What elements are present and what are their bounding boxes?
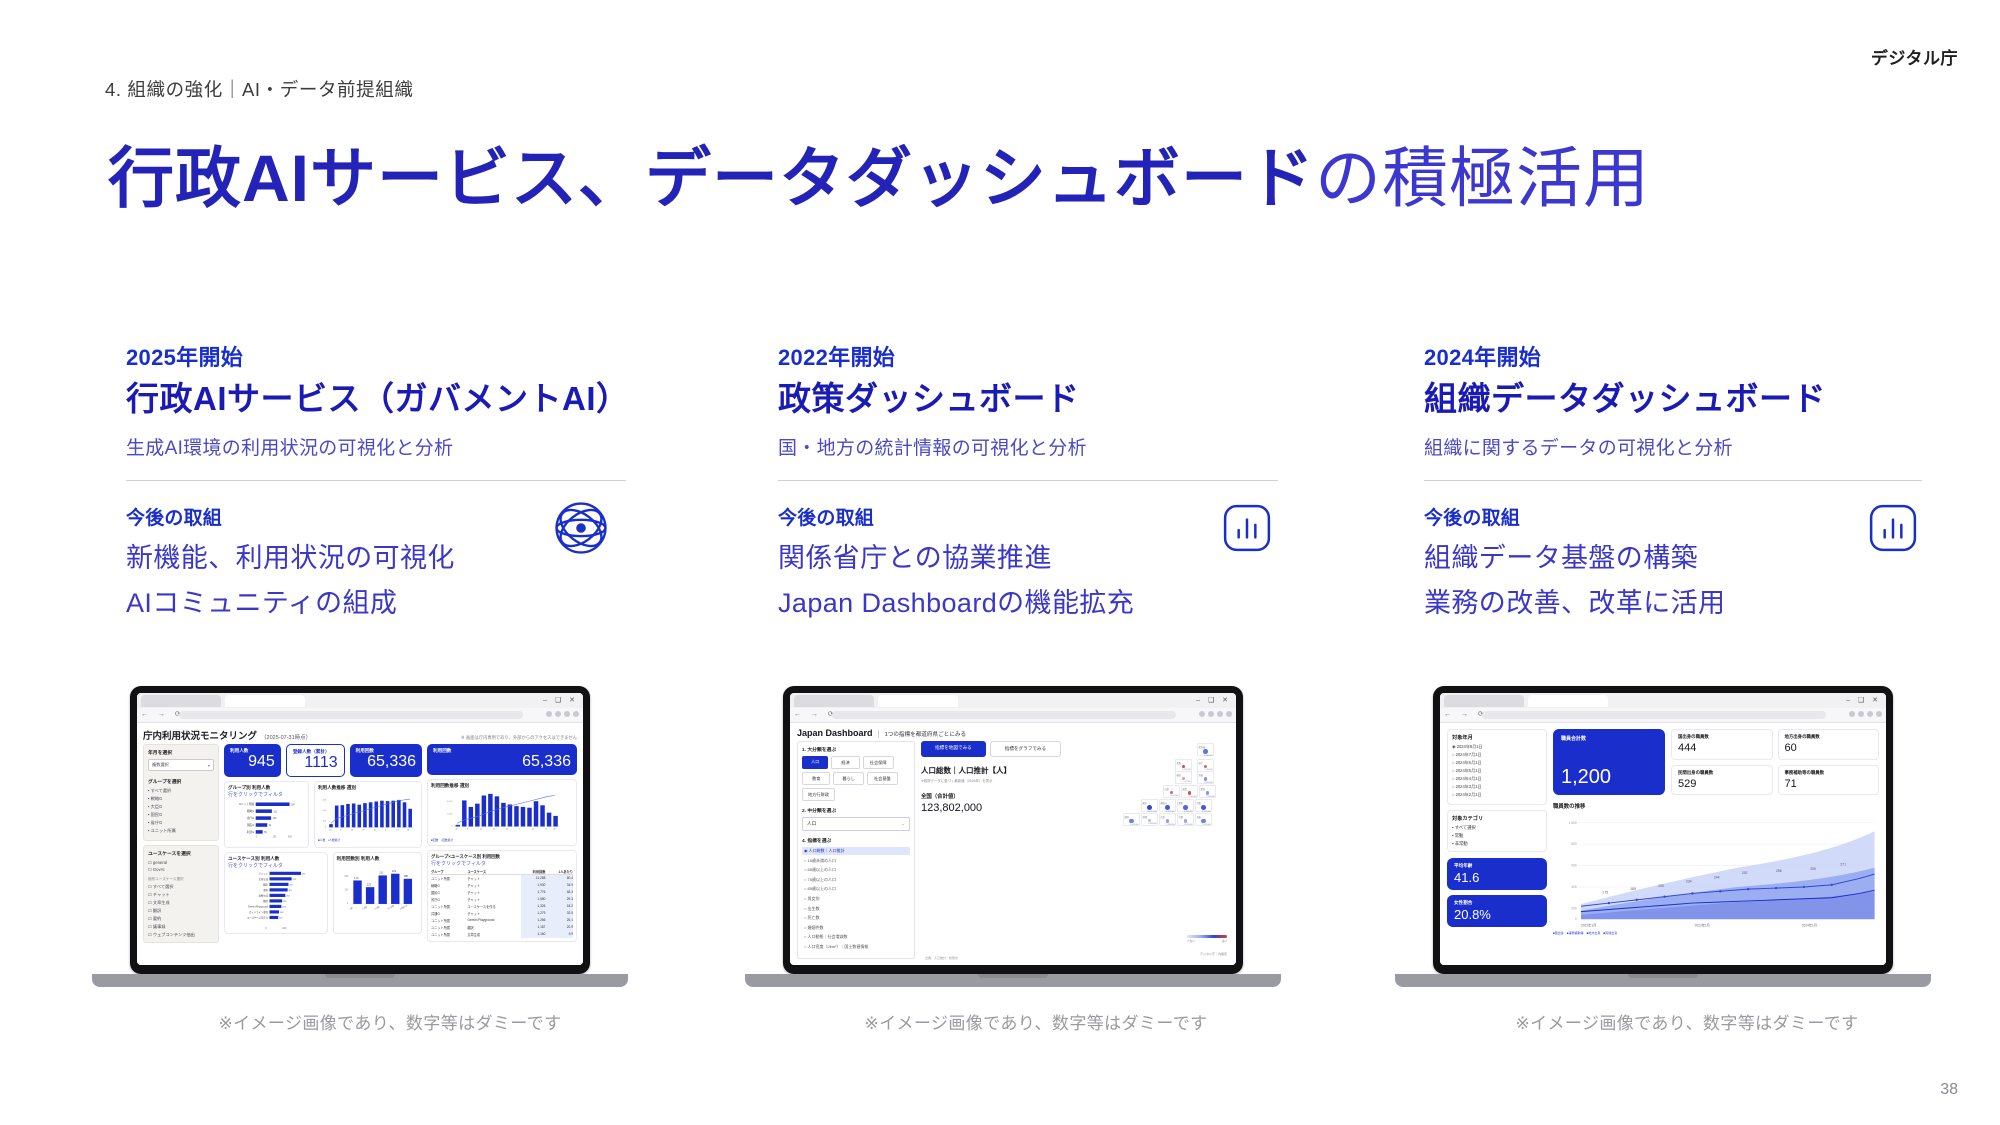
svg-text:4,000: 4,000	[447, 801, 453, 803]
indicator-radio-list[interactable]: ◉ 人口総数｜人口推計○ 15歳未満の人口○ 65歳以上の人口○ 75歳以上の人…	[802, 847, 910, 951]
svg-text:244: 244	[1714, 875, 1720, 879]
svg-text:400: 400	[288, 836, 293, 838]
svg-text:376: 376	[292, 879, 296, 881]
svg-text:0: 0	[256, 836, 258, 838]
tab-graph-view[interactable]: 指標をグラフでみる	[990, 741, 1061, 757]
filter-label: 2. 中分類を選ぶ	[802, 807, 910, 814]
chart-card-weekly-users: 利用人数推移 週別 400 200 100 0	[314, 781, 422, 848]
table-cell: チャット	[467, 910, 521, 917]
radio-option[interactable]: ○ 2024年4月1日	[1452, 776, 1542, 782]
radio-option[interactable]: ◉ 人口総数｜人口推計	[802, 847, 910, 855]
dashboard-right-1: 利用回数 65,336 利用回数推移 週別 4,000 2,000 0	[427, 744, 577, 943]
radio-option[interactable]: ○ 65歳以上の人口	[802, 866, 910, 874]
svg-text:218: 218	[283, 901, 287, 903]
svg-text:211: 211	[379, 872, 384, 875]
page-title-light: の積極活用	[1315, 141, 1650, 215]
kpi-value: 444	[1678, 742, 1766, 754]
svg-text:14: 14	[396, 829, 399, 831]
radio-option[interactable]: ◉ 2024年8月1日	[1452, 744, 1542, 750]
filter-label: 対象年月	[1452, 734, 1542, 741]
map-cell-value: 5,140,000	[1199, 755, 1213, 757]
url-input[interactable]	[1482, 711, 1826, 719]
table-cell: ユニット所属	[431, 931, 467, 938]
radio-option[interactable]: ○ 婚姻件数	[802, 924, 910, 932]
browser-tab[interactable]	[794, 695, 874, 707]
window-controls[interactable]: ‒ ❑ ✕	[543, 696, 578, 704]
svg-text:チャット: チャット	[259, 871, 268, 875]
table-cell: 1,580	[521, 896, 545, 903]
browser-tab-row: ‒ ❑ ✕	[137, 693, 583, 708]
app-subtitle: 1つの指標を都道府県ごとにみる	[885, 730, 966, 738]
svg-text:256: 256	[1776, 869, 1782, 873]
table-body: ユニット所属チャット11,28860.4戦略Gチャット1,93034.9国民Gチ…	[431, 874, 573, 938]
category-button-group[interactable]: 人口 経済 社会保障 教育 暮らし 社会基盤 地方行財政	[802, 756, 910, 801]
list-item[interactable]: ▪ 戦略G	[148, 796, 214, 802]
table-row[interactable]: ユニット所属ユースケースを作る1,32618.2	[431, 903, 573, 910]
map-cell-label: 青森	[1177, 761, 1191, 765]
laptop-caption: ※イメージ画像であり、数字等はダミーです	[1443, 1009, 1931, 1034]
map-cell-value: 917,000	[1177, 781, 1191, 783]
list-item[interactable]: ☐ すべて選択	[148, 884, 214, 890]
column-divider	[126, 480, 626, 481]
list-item[interactable]: ▪ すべて選択	[1452, 825, 1542, 831]
map-prefecture-cell[interactable]: 北海道5,140,000	[1197, 743, 1214, 756]
filter-group-category: 対象カテゴリ ▪ すべて選択 ▪ 常勤 ▪ 非常勤	[1447, 810, 1547, 852]
svg-text:400: 400	[323, 799, 327, 801]
svg-text:ガイドライン参照: ガイドライン参照	[249, 910, 269, 914]
table-cell: 25.1	[545, 917, 573, 924]
table-cell: チャット	[467, 882, 521, 889]
browser-extension-icons[interactable]	[546, 711, 579, 717]
category-button[interactable]: 地方行財政	[802, 788, 835, 801]
view-tabs[interactable]: 指標を地図でみる 指標をグラフでみる	[921, 741, 1095, 757]
svg-text:2,000: 2,000	[447, 813, 453, 815]
map-prefecture-cell[interactable]: 大阪8,784,000	[1195, 799, 1212, 812]
radio-option[interactable]: ○ 出生数	[802, 905, 910, 913]
map-prefecture-cell[interactable]: 神奈川9,232,000	[1159, 799, 1176, 812]
table-cell: 1,776	[521, 889, 545, 896]
table-cell: 1,326	[521, 903, 545, 910]
kpi-value: 41.6	[1454, 870, 1540, 885]
kpi-value: 60	[1785, 742, 1873, 754]
bar-chart-box-icon	[1868, 503, 1918, 553]
list-item[interactable]: ▪ 大臣G	[148, 804, 214, 810]
table-cell: 60.4	[545, 874, 573, 882]
dashboard-page-2: Japan Dashboard | 1つの指標を都道府県ごとにみる 1. 大分類…	[790, 723, 1236, 965]
table-card-group-usecase: グループ×ユースケース別 利用回数 行をクリックでフィルタ グループ ユースケー…	[427, 850, 577, 942]
future-label: 今後の取組	[778, 503, 1298, 530]
kpi-label: 地方出身の職員数	[1785, 734, 1873, 740]
kpi-value: 65,336	[356, 754, 416, 771]
kpi-value: 1,200	[1561, 766, 1657, 789]
svg-text:189: 189	[1630, 887, 1636, 891]
kpi-label: 職員合計数	[1561, 735, 1657, 742]
svg-text:28: 28	[553, 829, 555, 831]
chart-sub: 行をクリックでフィルタ	[228, 791, 305, 798]
list-item[interactable]: ☐ general	[148, 860, 214, 865]
svg-text:126: 126	[273, 818, 278, 820]
column-desc: 国・地方の統計情報の可視化と分析	[778, 433, 1298, 460]
table-cell: 1,187	[521, 924, 545, 931]
url-input[interactable]	[832, 711, 1176, 719]
group-checkbox-list[interactable]: ▪ すべて選択 ▪ 戦略G ▪ 大臣G ▪ 国民G ▪ 省庁G ▪ ユニット所属	[148, 788, 214, 834]
map-prefecture-cell[interactable]: 広島2,738,000	[1159, 813, 1176, 826]
filter-label: 1. 大分類を選ぶ	[802, 746, 910, 753]
radio-option[interactable]: ○ 15歳未満の人口	[802, 857, 910, 865]
svg-text:23: 23	[362, 829, 364, 831]
prefecture-map: 北海道5,140,000青森1,204,000岩手1,181,000秋田917,…	[1101, 741, 1229, 959]
column-policy-dashboard: 2022年開始 政策ダッシュボード 国・地方の統計情報の可視化と分析 今後の取組…	[778, 340, 1298, 619]
list-item[interactable]: ▪ 省庁G	[148, 820, 214, 826]
svg-text:28: 28	[407, 829, 409, 831]
table-cell: チャット	[467, 874, 521, 882]
category-button[interactable]: 暮らし	[833, 772, 864, 785]
browser-extension-icons[interactable]	[1199, 711, 1232, 717]
svg-text:1,000: 1,000	[1569, 821, 1577, 825]
svg-text:文章生成: 文章生成	[259, 877, 269, 881]
table-cell: 29.3	[545, 896, 573, 903]
filter-label: ユースケースを選択	[148, 850, 214, 857]
svg-text:175: 175	[1602, 890, 1608, 894]
chart-legend: ■人数 ▪人数累計	[318, 838, 418, 842]
table-cell: ユースケースを作る	[467, 903, 521, 910]
metric-title: 人口総数｜人口推計【人】	[921, 765, 1095, 776]
horizontal-bar-chart: ユニット所属 287 戦略G 131 省庁G 126 国民G 91 利活G	[228, 799, 305, 839]
svg-text:56: 56	[264, 832, 267, 834]
table-cell: 18.2	[545, 903, 573, 910]
svg-text:ユニット所属: ユニット所属	[238, 802, 254, 806]
window-controls[interactable]: ‒ ❑ ✕	[1846, 696, 1881, 704]
svg-text:203: 203	[282, 906, 286, 908]
browser-url-row: ← → ⟳ ⌕	[137, 708, 583, 722]
list-item[interactable]: ▪ ユニット所属	[148, 828, 214, 834]
map-cell-label: 兵庫	[1197, 815, 1211, 819]
bar-line-chart: 400 200 100 0	[318, 791, 418, 833]
table-row[interactable]: 省庁Gチャット1,58029.3	[431, 896, 573, 903]
dashboard-notice: ※ 画面は庁内専用であり、外部からのアクセスはできません	[461, 735, 577, 741]
future-label: 今後の取組	[1424, 503, 1944, 530]
svg-text:要約: 要約	[263, 888, 268, 892]
table-cell: 共通G	[431, 910, 467, 917]
table-row[interactable]: ユニット所属チャット11,28860.4	[431, 874, 573, 882]
svg-text:16: 16	[480, 829, 482, 831]
table-cell: 1,930	[521, 882, 545, 889]
vertical-bar-chart: 200 100 0	[337, 862, 418, 914]
list-item[interactable]: ▪ すべて選択	[148, 788, 214, 794]
future-item: Japan Dashboardの機能拡充	[778, 587, 1298, 620]
filter-label: グループを選択	[148, 778, 214, 785]
filter-group-month: 年月を選択 複数選択 ▾ グループを選択 ▪ すべて選択 ▪ 戦略G ▪ 大臣G	[143, 744, 219, 841]
map-prefecture-cell[interactable]: 沖縄1,468,000	[1141, 813, 1158, 826]
radio-option[interactable]: ○ 2024年6月1日	[1452, 760, 1542, 766]
browser-tab-row: ‒ ❑ ✕	[1440, 693, 1886, 708]
table-row[interactable]: ユニット所属文章生成1,1609.9	[431, 931, 573, 938]
column-desc: 生成AI環境の利用状況の可視化と分析	[126, 433, 646, 460]
map-cell-label: 山形	[1165, 787, 1179, 791]
list-item[interactable]: ☐ 文章生成	[148, 900, 214, 906]
map-prefecture-cell[interactable]: 宮城2,265,000	[1197, 771, 1214, 784]
month-select-value: 複数選択	[152, 762, 169, 768]
svg-text:0: 0	[347, 903, 349, 905]
kpi-value: 529	[1678, 778, 1766, 790]
svg-text:400: 400	[1571, 885, 1577, 889]
map-cell-label: 福島	[1183, 787, 1197, 791]
dashboard-page-3: 対象年月 ◉ 2024年8月1日○ 2024年7月1日○ 2024年6月1日○ …	[1440, 723, 1886, 965]
chevron-down-icon: ▾	[208, 763, 210, 768]
svg-text:325: 325	[289, 884, 293, 886]
filter-sidebar-3: 対象年月 ◉ 2024年8月1日○ 2024年7月1日○ 2024年6月1日○ …	[1447, 729, 1547, 935]
dashboard-title: 庁内利用状況モニタリング	[143, 728, 257, 742]
map-cell-label: 福岡	[1125, 815, 1139, 819]
map-cell-value: 2,144,000	[1201, 796, 1215, 798]
chart-card-group-users: グループ別 利用人数 行をクリックでフィルタ ユニット所属 287 戦略G 13…	[224, 781, 309, 848]
chevron-down-icon: ⌄	[901, 821, 905, 827]
table-cell: Gemini Playground	[467, 917, 521, 924]
browser-tab[interactable]	[1444, 695, 1524, 707]
list-item[interactable]: ▪ 常勤	[1452, 833, 1542, 839]
laptop-mockup-gov-ai: ‒ ❑ ✕ ← → ⟳ ⌕ 庁内利用状況モニタリング （2025-07-31時点…	[92, 686, 628, 1034]
browser-tab-active[interactable]	[1528, 695, 1608, 707]
svg-text:287: 287	[291, 804, 296, 806]
radio-option[interactable]: ○ 死亡数	[802, 914, 910, 922]
filter-panel: 1. 大分類を選ぶ 人口 経済 社会保障 教育 暮らし 社会基盤 地方行財政 2…	[797, 741, 915, 959]
svg-text:200: 200	[273, 836, 278, 838]
legend-high: 多い	[1222, 939, 1227, 943]
table-row[interactable]: ユニット所属Gemini Playground1,26625.1	[431, 917, 573, 924]
filter-sidebar: 年月を選択 複数選択 ▾ グループを選択 ▪ すべて選択 ▪ 戦略G ▪ 大臣G	[143, 744, 219, 943]
map-prefecture-cell[interactable]: 秋田917,000	[1175, 771, 1192, 784]
browser-tab-active[interactable]	[225, 695, 305, 707]
chart-card-usecase-users: ユースケース別 利用人数 行をクリックでフィルタ チャット文章生成翻訳 要約画像…	[224, 852, 328, 934]
column-name: 政策ダッシュボード	[778, 379, 1298, 419]
svg-text:1回: 1回	[348, 905, 353, 910]
kpi-card: 地方出身の職員数 60	[1778, 729, 1880, 760]
kpi-label: 国出身の職員数	[1678, 734, 1766, 740]
column-year: 2022年開始	[778, 340, 1298, 372]
kpi-grid: 国出身の職員数 444 地方出身の職員数 60 民間出身の職員数	[1671, 729, 1879, 795]
kpi-value: 1113	[293, 755, 338, 772]
table-cell: ユニット所属	[431, 917, 467, 924]
svg-text:91: 91	[269, 825, 272, 827]
table-cell: 34.9	[545, 882, 573, 889]
svg-text:翻訳: 翻訳	[263, 882, 268, 886]
svg-text:163: 163	[280, 912, 284, 914]
radio-option[interactable]: ○ 75歳以上の人口	[802, 876, 910, 884]
map-cell-label: 沖縄	[1143, 815, 1157, 819]
list-item[interactable]: ☐ ウェブコンテンツ抽出	[148, 932, 214, 938]
svg-text:30: 30	[506, 829, 508, 831]
legend-low: 少ない	[1187, 939, 1195, 943]
bar-chart-box-icon	[1222, 503, 1272, 553]
radio-option[interactable]: ○ 人口密度（2km²）｜国土数値情報	[802, 943, 910, 951]
browser-url-row: ← → ⟳ ⌕	[1440, 708, 1886, 722]
svg-text:800: 800	[1571, 842, 1577, 846]
list-item[interactable]: ☐ GovAI	[148, 867, 214, 872]
month-radio-list[interactable]: ◉ 2024年8月1日○ 2024年7月1日○ 2024年6月1日○ 2024年…	[1452, 744, 1542, 798]
browser-url-row: ← → ⟳ ⌕	[790, 708, 1236, 722]
window-controls[interactable]: ‒ ❑ ✕	[1196, 696, 1231, 704]
table-row[interactable]: ユニット所属翻訳1,18720.9	[431, 924, 573, 931]
category-button-active[interactable]: 人口	[802, 756, 828, 769]
laptop-lid: ‒ ❑ ✕ ← → ⟳ ⌕ Japan Dashboard | 1つの指標を都道…	[783, 686, 1243, 974]
total-label: 全国（合計値）	[921, 792, 1095, 800]
chart-title: 職員数の推移	[1553, 802, 1879, 810]
table-cell: 9.9	[545, 931, 573, 938]
map-prefecture-cell[interactable]: 愛知7,495,000	[1177, 799, 1194, 812]
category-button[interactable]: 社会保障	[863, 756, 894, 769]
browser-tab-active[interactable]	[878, 695, 958, 707]
svg-text:2023年1月: 2023年1月	[1695, 923, 1710, 928]
table-cell: 1,160	[521, 931, 545, 938]
browser-chrome: ‒ ❑ ✕ ← → ⟳ ⌕	[137, 693, 583, 723]
future-section: 今後の取組 新機能、利用状況の可視化 AIコミュニティの組成	[126, 503, 646, 620]
table-cell: 48.3	[545, 889, 573, 896]
table-row[interactable]: 国民Gチャット1,77648.3	[431, 889, 573, 896]
atom-orbit-icon	[552, 499, 610, 557]
table-cell: ユニット所属	[431, 903, 467, 910]
table-cell: 1,266	[521, 917, 545, 924]
laptop-base	[92, 974, 628, 987]
column-divider	[778, 480, 1278, 481]
laptop-lid: ‒ ❑ ✕ ← → ⟳ ⌕ 庁内利用状況モニタリング （2025-07-31時点…	[130, 686, 590, 974]
laptop-screen: ‒ ❑ ✕ ← → ⟳ ⌕ 対象年月 ◉ 2024年8	[1440, 693, 1886, 965]
table-cell: 省庁G	[431, 896, 467, 903]
svg-text:259: 259	[1810, 867, 1816, 871]
kpi-card: 登録人数（累計） 1113	[286, 744, 345, 777]
column-org-data-dashboard: 2024年開始 組織データダッシュボード 組織に関するデータの可視化と分析 今後…	[1424, 340, 1944, 619]
svg-text:100: 100	[344, 889, 349, 891]
radio-option[interactable]: ○ 男女別	[802, 895, 910, 903]
svg-text:123: 123	[366, 883, 371, 886]
list-item[interactable]: ☐ チャット	[148, 892, 214, 898]
svg-text:10-29回: 10-29回	[386, 903, 394, 910]
svg-text:200: 200	[1571, 907, 1577, 911]
data-table: グループ ユースケース 利用回数 1人あたり ユニット所属チャット11,2886…	[431, 869, 573, 938]
chart-xticks: 0 400	[228, 926, 324, 930]
future-item: 組織データ基盤の構築	[1424, 542, 1944, 575]
kpi-value: 945	[230, 754, 275, 771]
filter-group-usecase: ユースケースを選択 ☐ general ☐ GovAI 個別ユースケース選択 ☐…	[143, 845, 219, 943]
list-item[interactable]: ☐ 翻訳	[148, 908, 214, 914]
radio-option[interactable]: ○ 2024年7月1日	[1452, 752, 1542, 758]
map-cell-label: 愛知	[1179, 801, 1193, 805]
map-prefecture-cell[interactable]: 新潟2,144,000	[1199, 785, 1216, 798]
svg-text:223: 223	[392, 870, 397, 873]
svg-text:9: 9	[467, 829, 468, 831]
browser-tab[interactable]	[141, 695, 221, 707]
svg-text:200: 200	[323, 810, 327, 812]
future-section: 今後の取組 組織データ基盤の構築 業務の改善、改革に活用	[1424, 503, 1944, 620]
svg-text:0: 0	[1575, 917, 1577, 921]
kpi-card: 事務補助等の職員数 71	[1778, 765, 1880, 796]
browser-extension-icons[interactable]	[1849, 711, 1882, 717]
map-cell-label: 大阪	[1197, 801, 1211, 805]
svg-text:200: 200	[344, 876, 349, 878]
svg-text:国民G: 国民G	[247, 823, 254, 827]
radio-option[interactable]: ○ 2024年2月1日	[1452, 792, 1542, 798]
svg-text:26: 26	[329, 829, 331, 831]
kpi-label: 民間出身の職員数	[1678, 770, 1766, 776]
table-row[interactable]: 共通Gチャット1,27932.5	[431, 910, 573, 917]
list-item[interactable]: ☐ 議事録	[148, 924, 214, 930]
column-name: 組織データダッシュボード	[1424, 379, 1944, 419]
list-item[interactable]: ☐ 要約	[148, 916, 214, 922]
svg-text:252: 252	[1742, 871, 1748, 875]
radio-option[interactable]: ○ 2024年3月1日	[1452, 784, 1542, 790]
map-legend: 少ない 多い	[1187, 935, 1227, 943]
radio-option[interactable]: ○ 人口動態｜社会増減数	[802, 933, 910, 941]
browser-chrome: ‒ ❑ ✕ ← → ⟳ ⌕	[790, 693, 1236, 723]
month-select[interactable]: 複数選択 ▾	[148, 759, 214, 771]
svg-text:翻訳: 翻訳	[263, 899, 268, 903]
map-cell-label: 京都	[1179, 815, 1193, 819]
dashboard-main-3: 職員合計数 1,200 国出身の職員数 444 地方出身の職員	[1553, 729, 1879, 935]
kpi-card: 国出身の職員数 444	[1671, 729, 1773, 760]
column-name: 行政AIサービス（ガバメントAI）	[126, 379, 646, 419]
table-row[interactable]: 戦略Gチャット1,93034.9	[431, 882, 573, 889]
page-number: 38	[1940, 1081, 1958, 1099]
svg-text:7: 7	[519, 829, 520, 831]
list-item[interactable]: ▪ 国民G	[148, 812, 214, 818]
column-year: 2025年開始	[126, 340, 646, 372]
horizontal-bar-chart: チャット文章生成翻訳 要約画像生成翻訳 Gemini Playgroundガイド…	[228, 869, 324, 921]
kpi-card: 利用人数 945	[224, 744, 281, 777]
filter-label: 4. 指標を選ぶ	[802, 837, 910, 844]
table-cell: 1,279	[521, 910, 545, 917]
map-prefecture-cell[interactable]: 京都2,520,000	[1177, 813, 1194, 826]
map-cell-label: 宮城	[1199, 773, 1213, 777]
map-prefecture-cell[interactable]: 福島1,790,000	[1181, 785, 1198, 798]
url-input[interactable]	[179, 711, 523, 719]
category-button[interactable]: 教育	[802, 772, 830, 785]
map-cell-label: 東京	[1143, 801, 1157, 805]
kpi-value: 71	[1785, 778, 1873, 790]
svg-text:307: 307	[288, 890, 292, 892]
table-cell: 翻訳	[467, 924, 521, 931]
map-cell-label: 広島	[1161, 815, 1175, 819]
map-prefecture-cell[interactable]: 福岡5,104,000	[1123, 813, 1140, 826]
dashboard-page-1: 庁内利用状況モニタリング （2025-07-31時点） ※ 画面は庁内専用であり…	[137, 723, 583, 965]
category-button[interactable]: 経済	[831, 756, 859, 769]
browser-chrome: ‒ ❑ ✕ ← → ⟳ ⌕	[1440, 693, 1886, 723]
radio-option[interactable]: ○ 85歳以上の人口	[802, 885, 910, 893]
kpi-label: 女性割合	[1454, 900, 1540, 906]
map-cell-value: 2,738,000	[1161, 824, 1175, 826]
map-prefecture-cell[interactable]: 兵庫5,370,000	[1195, 813, 1212, 826]
future-item: AIコミュニティの組成	[126, 587, 646, 620]
subcategory-select[interactable]: 人口 ⌄	[802, 817, 910, 831]
column-divider	[1424, 480, 1922, 481]
chart-card-usage-count: 利用回数別 利用人数 200 100 0	[333, 852, 422, 934]
browser-tab-row: ‒ ❑ ✕	[790, 693, 1236, 708]
list-item[interactable]: ▪ 非常勤	[1452, 841, 1542, 847]
kpi-value: 65,336	[433, 754, 571, 771]
map-cell-value: 2,520,000	[1179, 824, 1193, 826]
map-prefecture-cell[interactable]: 東京14,010,000	[1141, 799, 1158, 812]
radio-option[interactable]: ○ 2024年5月1日	[1452, 768, 1542, 774]
kpi-label: 事務補助等の職員数	[1785, 770, 1873, 776]
subcategory-value: 人口	[807, 821, 816, 827]
category-button[interactable]: 社会基盤	[867, 772, 898, 785]
laptop-screen: ‒ ❑ ✕ ← → ⟳ ⌕ Japan Dashboard | 1つの指標を都道…	[790, 693, 1236, 965]
svg-text:131: 131	[273, 811, 278, 813]
laptop-caption: ※イメージ画像であり、数字等はダミーです	[791, 1009, 1281, 1034]
footer-right: デジタル庁｜内閣府	[1200, 952, 1227, 956]
tab-map-view[interactable]: 指標を地図でみる	[921, 741, 986, 757]
svg-text:100: 100	[323, 820, 327, 822]
svg-text:271: 271	[1840, 863, 1846, 867]
map-prefecture-cell[interactable]: 山形1,041,000	[1163, 785, 1180, 798]
